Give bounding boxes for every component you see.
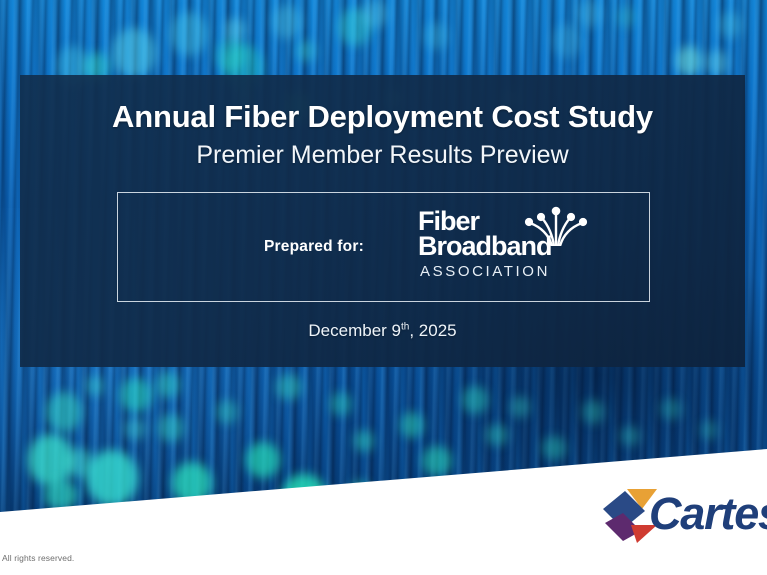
bokeh-dot — [542, 436, 566, 460]
logo-line-association: ASSOCIATION — [420, 264, 550, 279]
bokeh-dot — [620, 426, 640, 446]
prepared-for-box: Prepared for: — [117, 192, 650, 302]
bokeh-dot — [276, 374, 302, 400]
bokeh-dot — [46, 392, 82, 432]
bokeh-dot — [422, 446, 452, 476]
date-year: , 2025 — [409, 321, 456, 340]
presentation-date: December 9th, 2025 — [20, 321, 745, 341]
bokeh-dot — [246, 442, 280, 478]
bokeh-dot — [616, 6, 636, 28]
page-title: Annual Fiber Deployment Cost Study — [20, 99, 745, 135]
bokeh-dot — [330, 392, 352, 416]
date-main: December 9 — [308, 321, 401, 340]
title-panel: Annual Fiber Deployment Cost Study Premi… — [20, 75, 745, 367]
bokeh-dot — [582, 400, 604, 424]
bokeh-dot — [156, 372, 180, 398]
bokeh-dot — [272, 5, 302, 39]
bokeh-dot — [510, 396, 530, 418]
prepared-for-label: Prepared for: — [264, 238, 364, 256]
bokeh-dot — [552, 24, 582, 58]
bokeh-dot — [44, 480, 78, 510]
bokeh-dot — [424, 22, 448, 50]
bokeh-dot — [700, 420, 718, 440]
bokeh-dot — [112, 28, 156, 78]
bokeh-dot — [170, 12, 208, 56]
bokeh-dot — [350, 480, 370, 500]
bokeh-dot — [706, 50, 728, 76]
bokeh-dot — [216, 400, 238, 424]
fiber-broadband-association-logo: Fiber Broadband ASSOCIATION — [418, 205, 610, 293]
bokeh-dot — [86, 376, 104, 396]
bokeh-dot — [718, 12, 742, 38]
bokeh-dot — [660, 398, 682, 420]
cartesian-wordmark: Cartesian — [649, 488, 767, 540]
title-slide: Annual Fiber Deployment Cost Study Premi… — [0, 0, 767, 575]
bokeh-dot — [576, 0, 602, 28]
logo-line-broadband: Broadband — [418, 233, 552, 260]
bokeh-dot — [86, 450, 138, 506]
bokeh-dot — [676, 46, 702, 76]
bokeh-dot — [354, 430, 374, 452]
bokeh-dot — [362, 0, 388, 28]
cartesian-logo: Cartesian — [601, 484, 767, 546]
bokeh-dot — [120, 378, 152, 412]
bokeh-dot — [124, 418, 146, 440]
bokeh-dot — [296, 40, 316, 62]
footer-rights-text: All rights reserved. — [2, 553, 74, 563]
bokeh-dot — [486, 424, 508, 446]
bokeh-dot — [224, 18, 246, 42]
page-subtitle: Premier Member Results Preview — [20, 141, 745, 170]
bokeh-dot — [400, 412, 424, 438]
bokeh-dot — [158, 414, 184, 442]
bokeh-dot — [462, 386, 488, 414]
bokeh-dot — [172, 462, 212, 504]
bokeh-dot — [282, 474, 326, 518]
